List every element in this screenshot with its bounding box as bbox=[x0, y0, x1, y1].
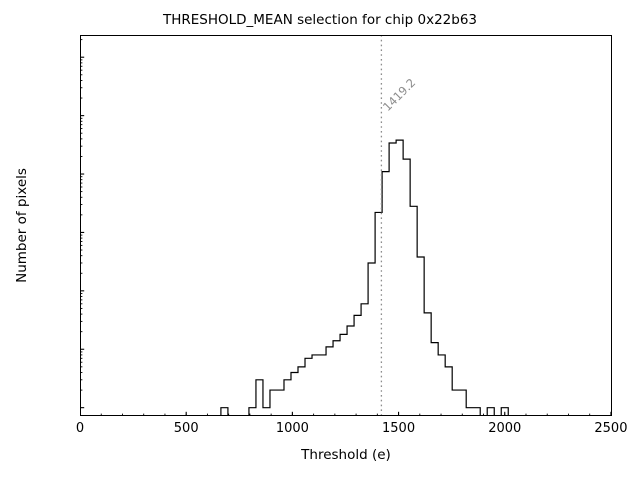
plot-frame-border bbox=[80, 35, 612, 416]
x-tick-label: 2000 bbox=[488, 421, 521, 436]
x-tick-label: 1500 bbox=[382, 421, 415, 436]
y-axis-label: Number of pixels bbox=[14, 35, 38, 416]
figure-canvas: THRESHOLD_MEAN selection for chip 0x22b6… bbox=[0, 0, 640, 480]
x-tick-label: 500 bbox=[174, 421, 199, 436]
x-tick-label: 0 bbox=[76, 421, 84, 436]
x-tick-label: 2500 bbox=[594, 421, 627, 436]
x-tick-label: 1000 bbox=[276, 421, 309, 436]
chart-title: THRESHOLD_MEAN selection for chip 0x22b6… bbox=[0, 12, 640, 28]
x-axis-label: Threshold (e) bbox=[80, 447, 612, 463]
